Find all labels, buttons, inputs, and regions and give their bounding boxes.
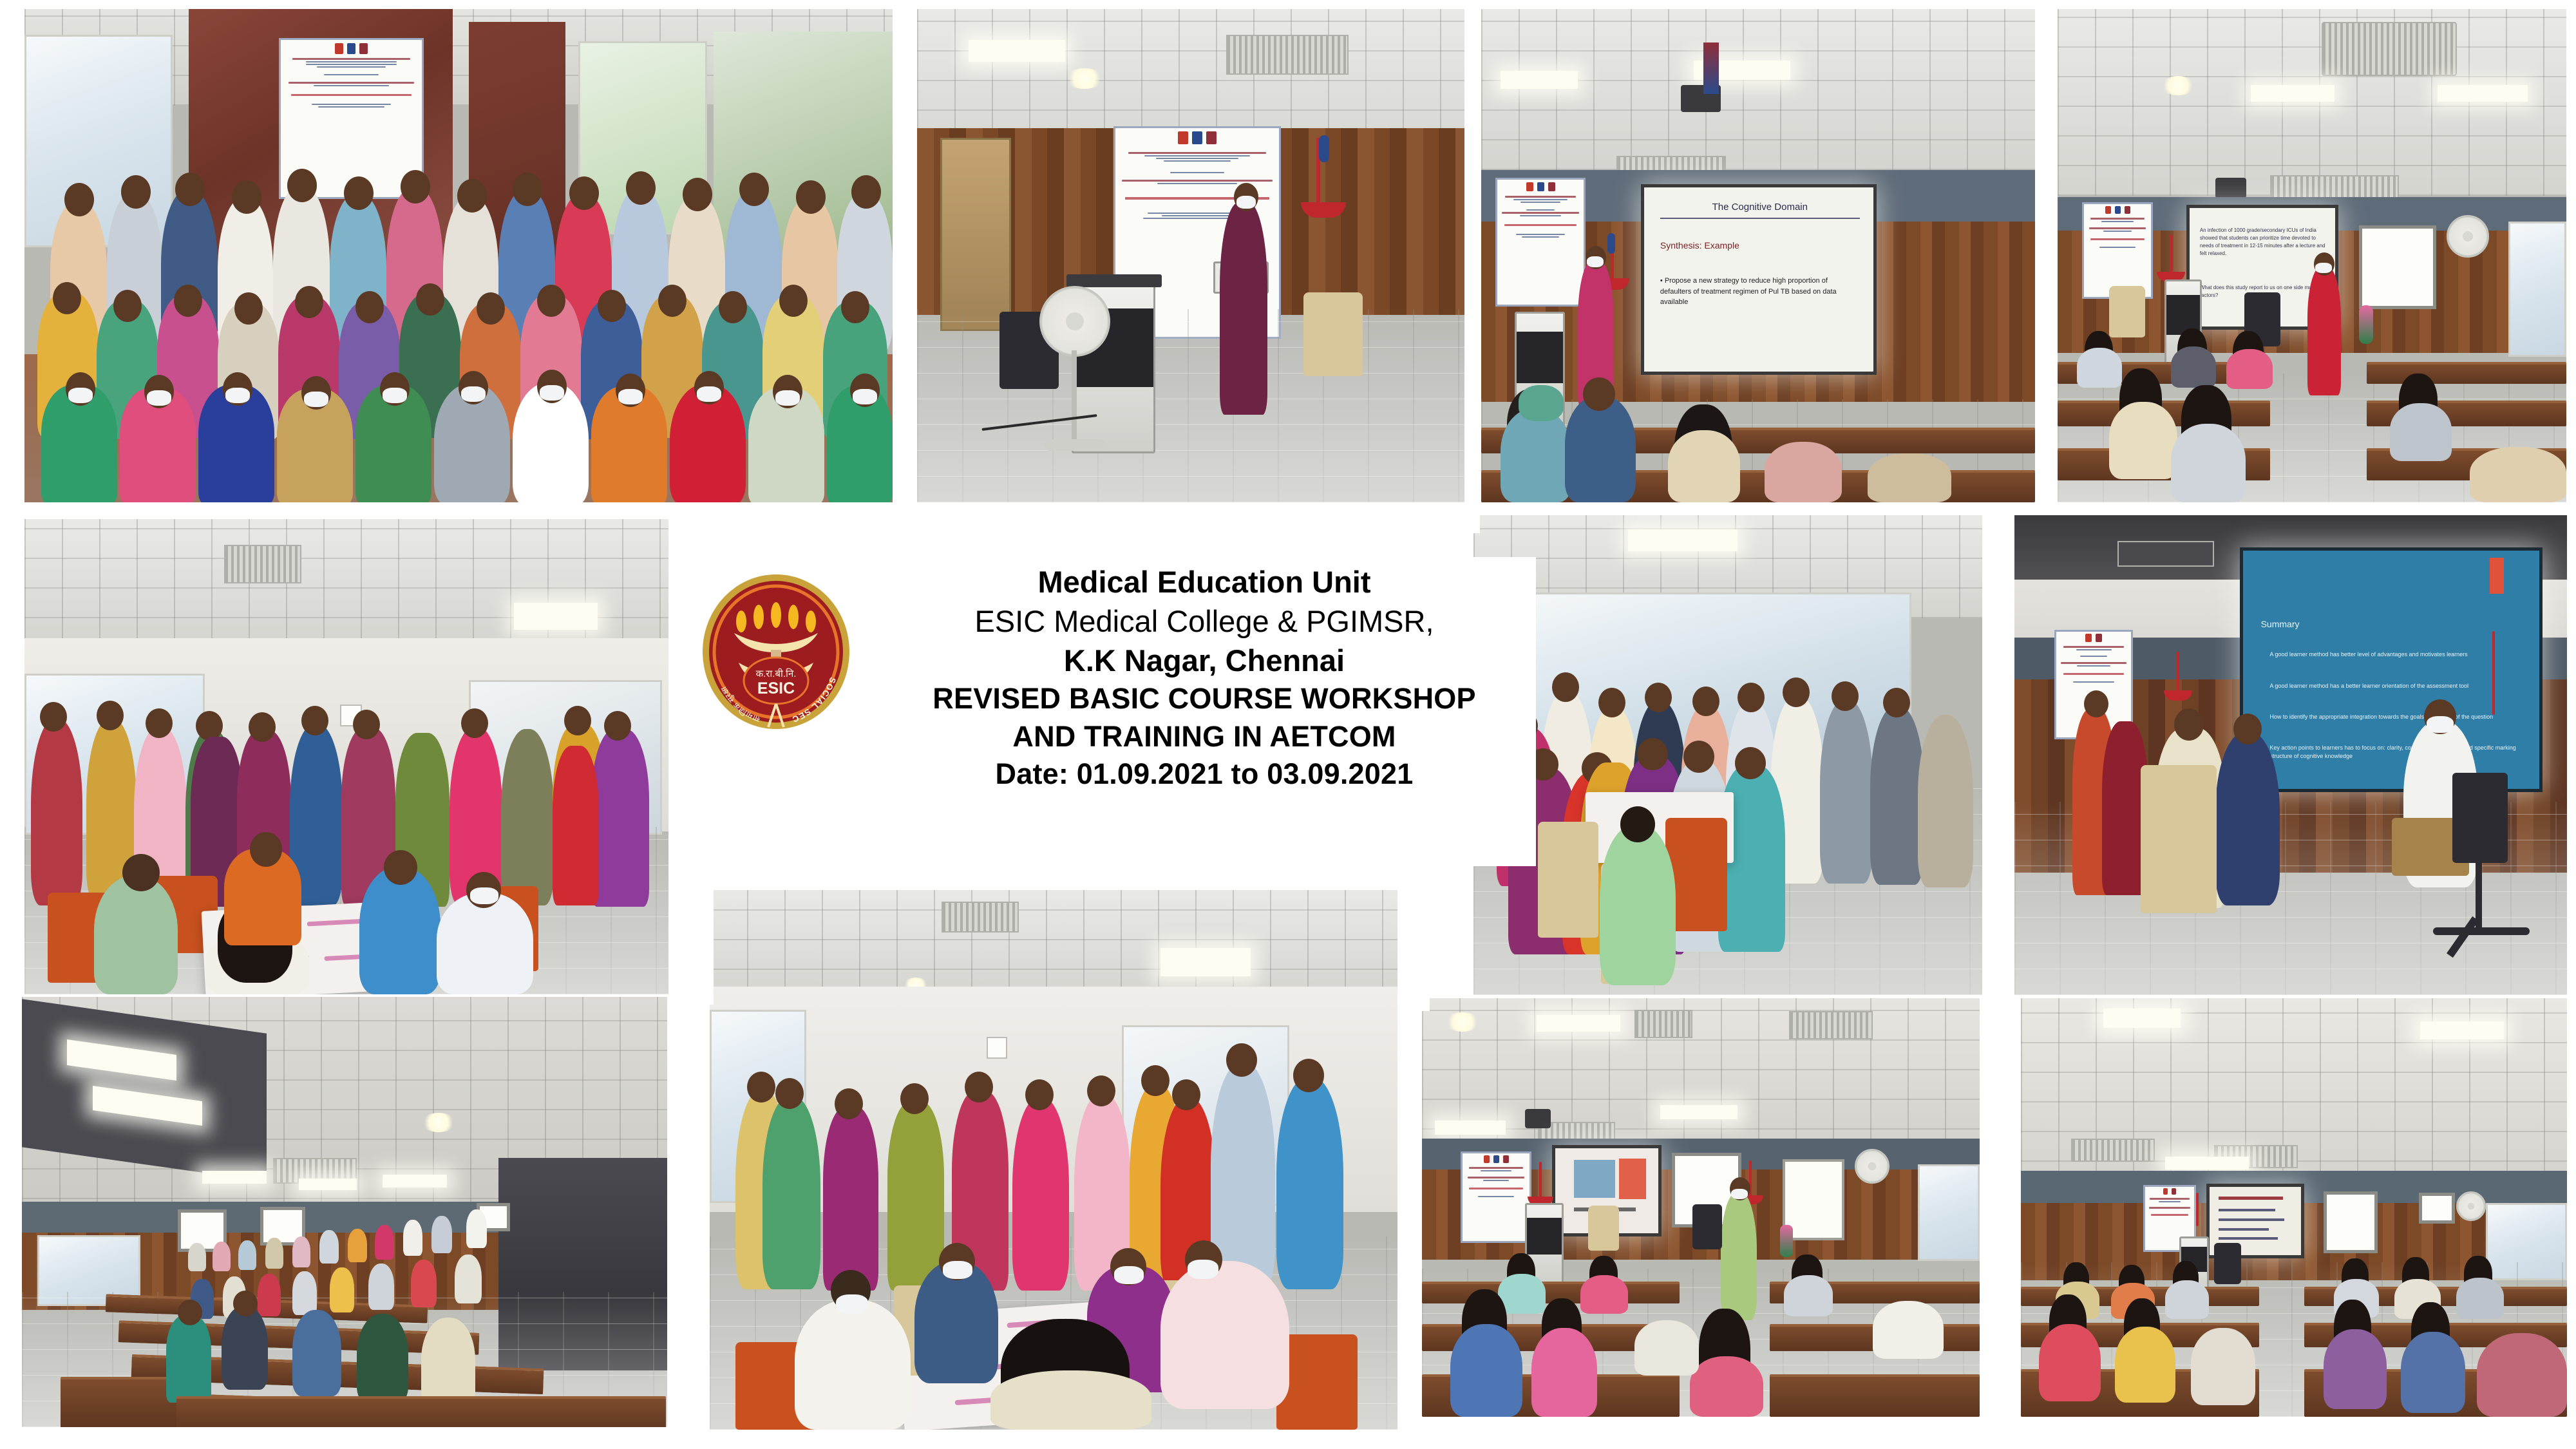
slide-title: Summary — [2261, 618, 2522, 631]
slide-bullet: • Propose a new strategy to reduce high … — [1660, 276, 1860, 308]
slide-subtitle: Synthesis: Example — [1660, 239, 1860, 252]
title-line-3: K.K Nagar, Chennai — [1064, 641, 1345, 680]
title-block: क.रा.बी.नि. ESIC SOCIAL SECURITY सामाजिक… — [699, 557, 1536, 866]
photo-auditorium-participants — [22, 997, 667, 1427]
slide-bullet-4: Key action points to learners has to foc… — [2269, 744, 2521, 761]
photo-group-activity-table-left — [24, 519, 668, 994]
projection-screen: The Cognitive Domain Synthesis: Example … — [1641, 184, 1877, 375]
slide-bullet-1: A good learner method has better level o… — [2269, 650, 2521, 659]
slide-body: An infection of 1000 grade/secondary ICU… — [2200, 227, 2327, 258]
photo-session-summary-slide: Summary A good learner method has better… — [2014, 515, 2567, 995]
esic-logo-text: ESIC — [757, 679, 795, 697]
photo-group-activity-standing — [1473, 515, 1982, 995]
photo-session-presenter-hall — [1422, 998, 1980, 1417]
title-lines: Medical Education Unit ESIC Medical Coll… — [873, 557, 1536, 793]
esic-logo-icon: क.रा.बी.नि. ESIC SOCIAL SECURITY सामाजिक… — [699, 571, 853, 732]
photo-group-photo-foyer — [24, 9, 893, 502]
title-line-1: Medical Education Unit — [1037, 562, 1370, 601]
photo-collage: The Cognitive Domain Synthesis: Example … — [0, 0, 2576, 1449]
person — [1220, 202, 1267, 415]
photo-lecture-hall-wide: An infection of 1000 grade/secondary ICU… — [2058, 9, 2566, 502]
slide-title: The Cognitive Domain — [1660, 200, 1860, 219]
title-line-5: AND TRAINING IN AETCOM — [1012, 718, 1396, 756]
photo-participants-note-taking — [2021, 998, 2567, 1417]
title-line-6: Date: 01.09.2021 to 03.09.2021 — [996, 755, 1414, 793]
esic-logo-hindi-text: क.रा.बी.नि. — [756, 668, 797, 679]
slide-bullet-2: A good learner method has a better learn… — [2269, 682, 2521, 691]
photo-session-cognitive-domain: The Cognitive Domain Synthesis: Example … — [1481, 9, 2035, 502]
photo-group-activity-centre — [710, 890, 1397, 1430]
event-banner — [1495, 178, 1586, 307]
slide-bullet-3: How to identify the appropriate integrat… — [2269, 713, 2521, 722]
title-line-4: REVISED BASIC COURSE WORKSHOP — [933, 680, 1475, 718]
person — [1721, 1191, 1757, 1320]
photo-inaugural-podium — [917, 9, 1464, 502]
projection-screen: Summary A good learner method has better… — [2240, 547, 2543, 792]
title-line-2: ESIC Medical College & PGIMSR, — [974, 601, 1434, 641]
person — [2307, 267, 2341, 395]
